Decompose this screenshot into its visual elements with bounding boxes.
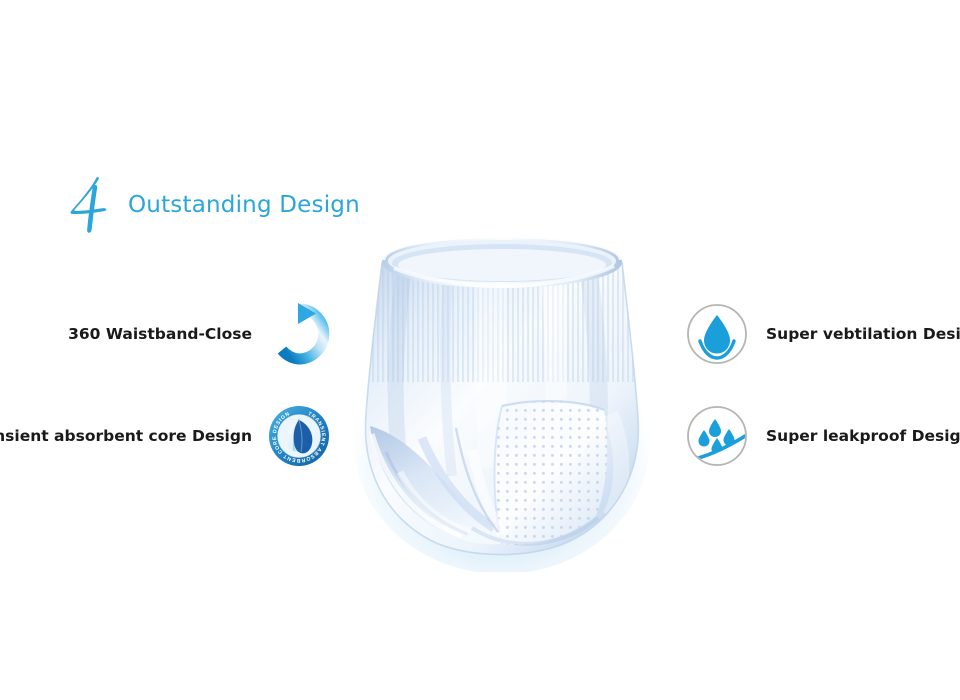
leaf-seal-icon: TRANSIENT ABSORBENT CORE DESIGN xyxy=(268,405,330,467)
product-image xyxy=(352,228,652,572)
feature-item-waistband[interactable]: 360 Waistband-Close xyxy=(10,303,330,365)
infographic-canvas: Outstanding Design xyxy=(0,0,960,700)
feature-item-core[interactable]: Transient absorbent core Design xyxy=(10,405,330,467)
circular-arrow-icon xyxy=(268,303,330,365)
feature-label-ventilation: Super vebtilation Design xyxy=(766,325,960,343)
water-drop-arc-icon xyxy=(686,303,748,365)
feature-label-leakproof: Super leakproof Design xyxy=(766,427,960,445)
page-title: Outstanding Design xyxy=(62,176,360,234)
feature-label-waistband: 360 Waistband-Close xyxy=(68,325,252,343)
brush-four-numeral-icon xyxy=(62,176,114,234)
feature-label-core: Transient absorbent core Design xyxy=(0,427,252,445)
feature-item-ventilation[interactable]: Super vebtilation Design xyxy=(686,303,960,365)
page-title-text: Outstanding Design xyxy=(128,192,360,218)
droplets-wave-icon xyxy=(686,405,748,467)
feature-item-leakproof[interactable]: Super leakproof Design xyxy=(686,405,960,467)
